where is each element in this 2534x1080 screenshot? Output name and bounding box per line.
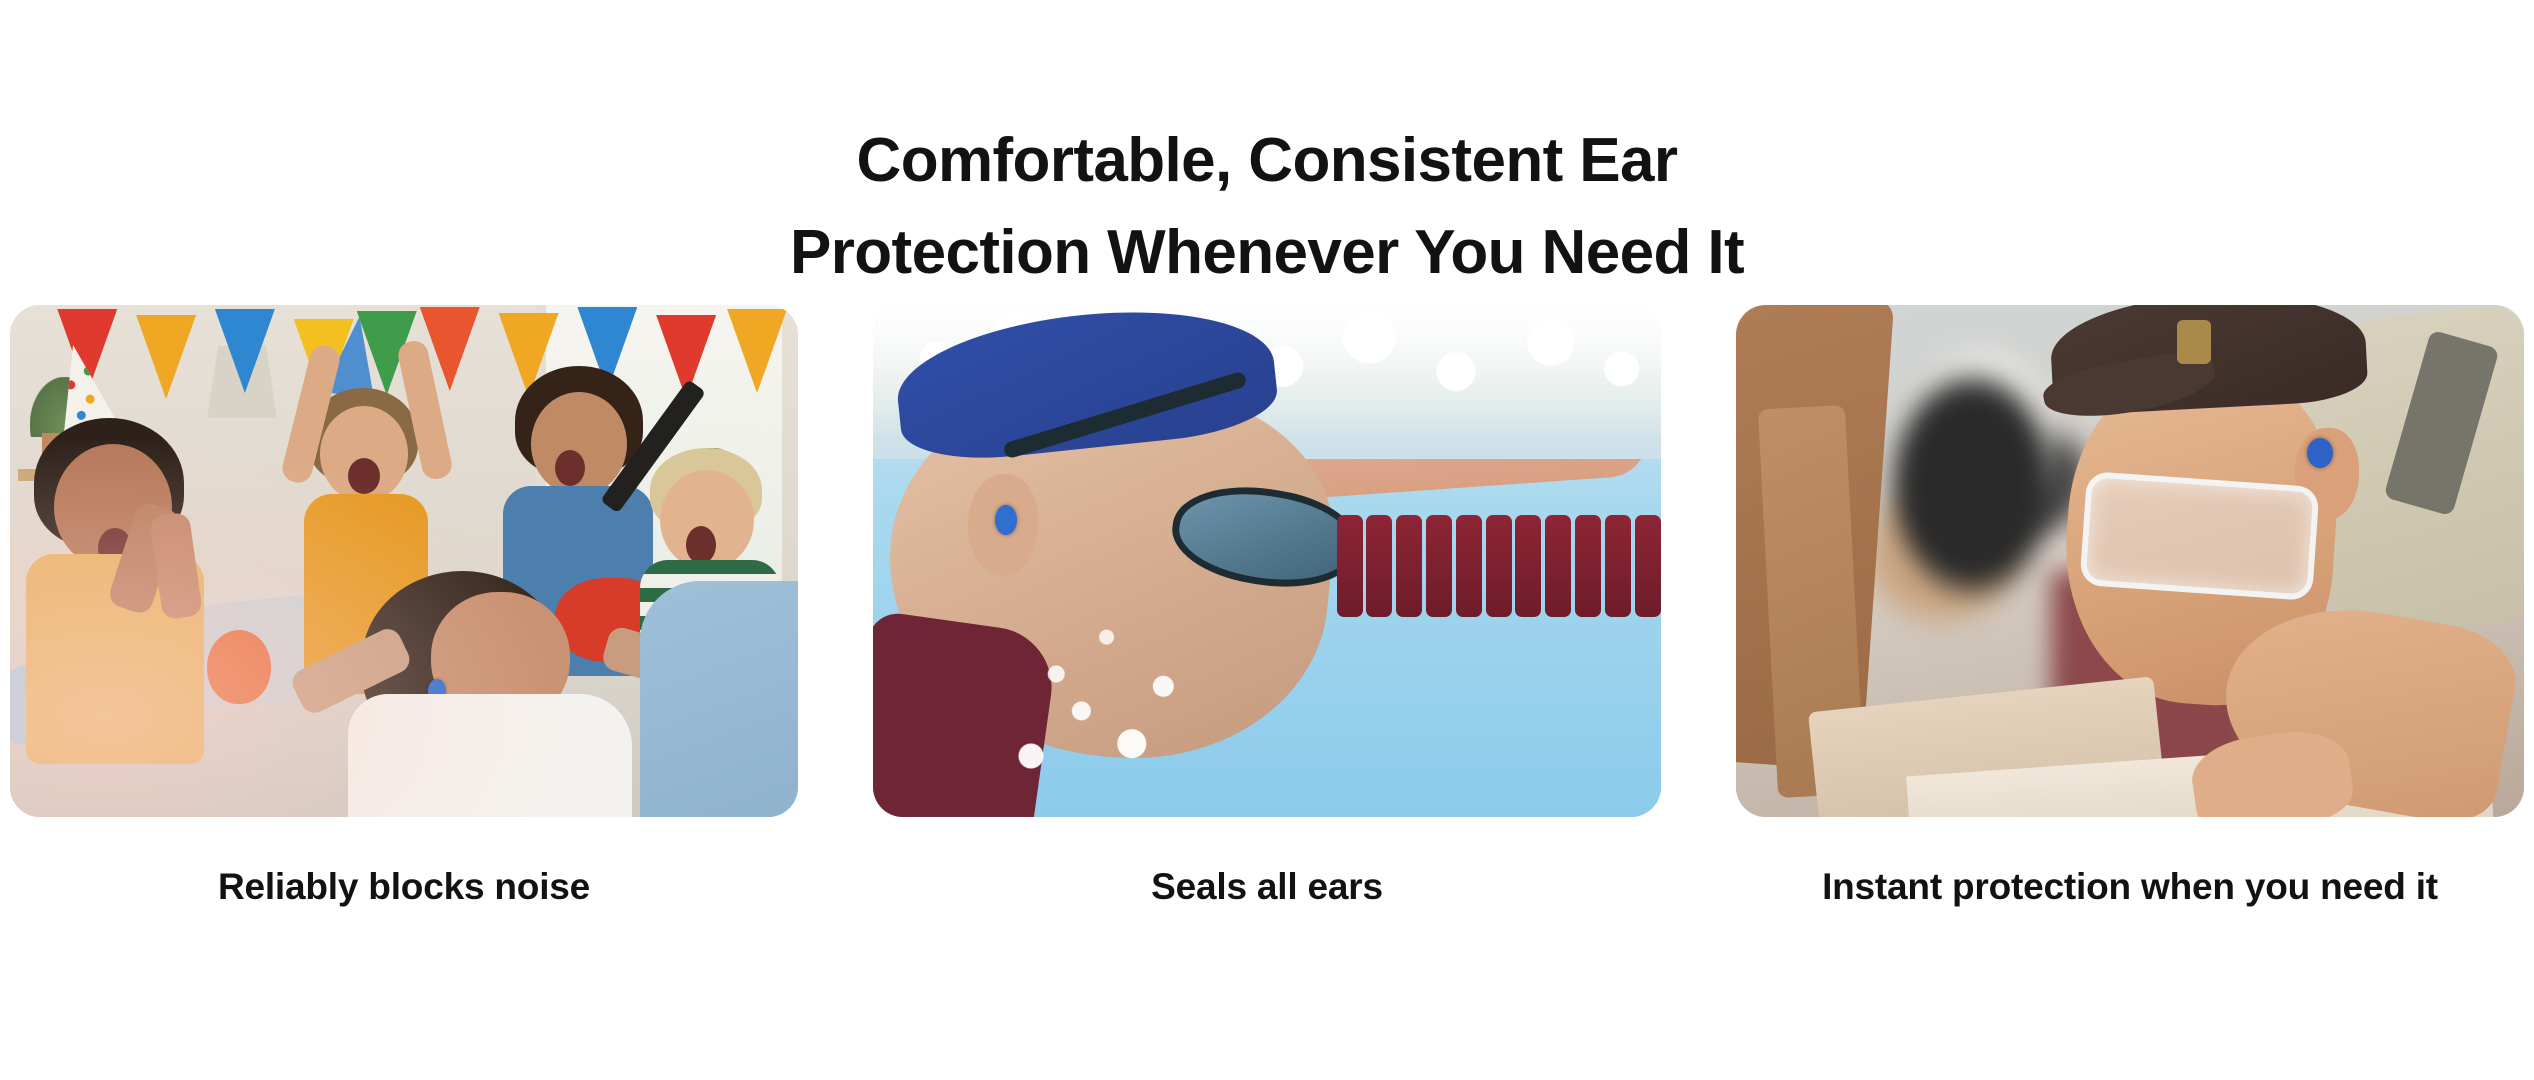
party-scene [10,305,798,817]
feature-image-1 [10,305,798,817]
page-title-line-2: Protection Whenever You Need It [0,222,2534,284]
feature-card-3[interactable]: Instant protection when you need it [1736,305,2524,909]
feature-image-3 [1736,305,2524,817]
safety-goggles [2079,471,2319,601]
earplug-icon [995,505,1017,535]
page-title-line-1: Comfortable, Consistent Ear [0,130,2534,192]
workshop-machine [1870,346,2075,622]
cap-clasp [2177,320,2211,364]
promo-page: Comfortable, Consistent Ear Protection W… [0,0,2534,1080]
workshop-scene [1736,305,2524,817]
feature-image-2 [873,305,1661,817]
air-bubbles [968,592,1283,797]
feature-caption-3: Instant protection when you need it [1736,865,2524,909]
feature-caption-1: Reliably blocks noise [10,865,798,909]
feature-card-2[interactable]: Seals all ears [873,305,1661,909]
feature-card-1[interactable]: Reliably blocks noise [10,305,798,909]
swimmer-scene [873,305,1661,817]
feature-caption-2: Seals all ears [873,865,1661,909]
warm-light-haze [10,305,798,817]
feature-card-list: Reliably blocks noise [10,305,2524,909]
page-title: Comfortable, Consistent Ear Protection W… [0,130,2534,284]
lane-rope [1330,515,1661,617]
